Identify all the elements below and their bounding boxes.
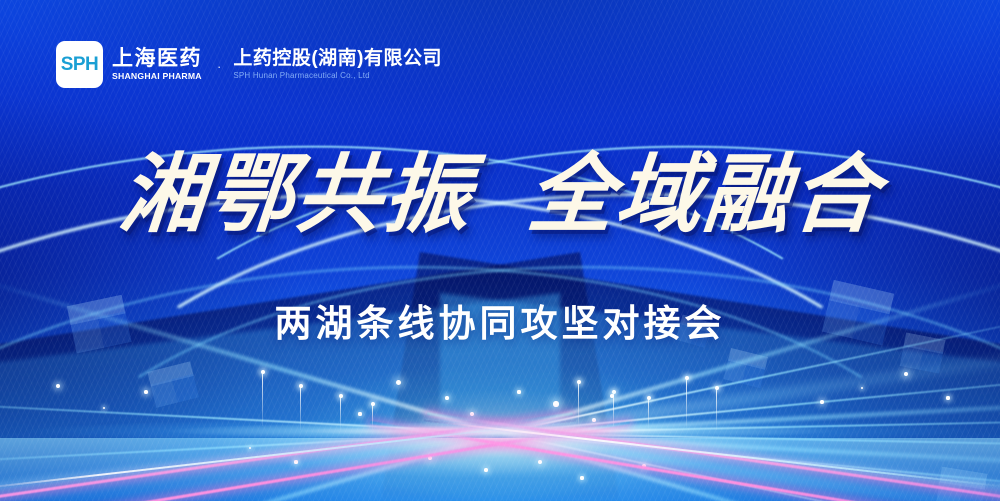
- floating-cube: [820, 280, 894, 354]
- light-arc: [0, 223, 1000, 501]
- event-banner: SPH 上海医药 SHANGHAI PHARMA · 上药控股(湖南)有限公司 …: [0, 0, 1000, 501]
- sparkle-dot: [396, 380, 401, 385]
- white-light-rail: [424, 420, 1000, 494]
- sparkle-dot: [249, 447, 252, 450]
- left-shadow-wedge: [0, 252, 621, 501]
- light-beam: [500, 365, 1000, 434]
- sparkle-dot: [517, 390, 520, 393]
- light-pole: [716, 388, 717, 430]
- light-pole: [372, 404, 373, 430]
- light-beam: [500, 303, 1000, 434]
- light-beam: [499, 432, 1000, 501]
- parent-company-name: 上海医药 SHANGHAI PHARMA: [112, 48, 202, 81]
- sparkle-dot: [428, 456, 433, 461]
- light-arc: [0, 223, 1000, 501]
- right-light-plane: [440, 293, 1000, 501]
- sparkle-dot: [56, 384, 60, 388]
- headline-part-one: 湘鄂共振: [116, 152, 476, 238]
- light-pole: [613, 392, 614, 430]
- light-pole: [578, 382, 579, 428]
- sparkle-dot: [484, 468, 488, 472]
- white-light-rail: [0, 420, 576, 494]
- left-light-plane: [0, 293, 560, 501]
- light-pole: [262, 372, 263, 426]
- sparkle-dot: [144, 390, 148, 394]
- sparkle-dot: [904, 372, 908, 376]
- light-beam: [500, 394, 1000, 436]
- company-logo: SPH 上海医药 SHANGHAI PHARMA · 上药控股(湖南)有限公司 …: [56, 41, 442, 88]
- light-beam: [500, 432, 1000, 474]
- floating-cube: [935, 467, 988, 501]
- light-beam: [0, 432, 500, 471]
- sph-logo-mark-text: SPH: [61, 54, 99, 76]
- sparkle-dot: [820, 400, 824, 404]
- subsidiary-company-name-en: SPH Hunan Pharmaceutical Co., Ltd: [233, 72, 442, 80]
- sparkle-dot: [294, 460, 297, 463]
- sph-logo-mark: SPH: [56, 41, 103, 88]
- light-pole: [340, 396, 341, 430]
- floating-cube: [67, 295, 133, 361]
- sparkle-dot: [946, 396, 949, 399]
- light-arc: [0, 135, 1000, 501]
- light-beam: [500, 432, 1000, 449]
- sparkle-dot: [470, 412, 474, 416]
- sparkle-dot: [861, 387, 864, 390]
- pink-light-streak: [0, 421, 630, 501]
- floating-cube: [899, 333, 946, 380]
- sparkle-dot: [358, 412, 361, 415]
- sparkle-dot: [642, 464, 646, 468]
- pink-light-streak: [370, 421, 1000, 501]
- light-arc: [0, 74, 1000, 501]
- headline: 湘鄂共振 全域融合: [0, 152, 1000, 238]
- sparkle-dot: [538, 460, 542, 464]
- pink-light-streak: [0, 412, 573, 501]
- floating-cube: [147, 361, 200, 414]
- sparkle-dot: [445, 396, 449, 400]
- light-beam: [499, 334, 1000, 438]
- light-pole: [648, 398, 649, 428]
- light-beam: [499, 273, 1000, 436]
- sparkle-dot: [610, 394, 614, 398]
- sparkle-dot: [580, 476, 583, 479]
- logo-separator-dot: ·: [217, 59, 221, 74]
- right-shadow-wedge: [379, 252, 1000, 501]
- light-beam: [0, 273, 501, 436]
- ground-reflection: [0, 438, 1000, 501]
- light-arc: [0, 135, 1000, 501]
- light-pole: [300, 386, 301, 430]
- floating-cube: [674, 314, 711, 351]
- subsidiary-company-name: 上药控股(湖南)有限公司 SPH Hunan Pharmaceutical Co…: [233, 49, 442, 80]
- sparkle-dot: [103, 407, 106, 410]
- horizon-glow: [0, 418, 1000, 444]
- light-beam: [500, 432, 1000, 501]
- sparkle-dot: [592, 418, 596, 422]
- light-beam: [499, 432, 1000, 501]
- subsidiary-company-name-cn: 上药控股(湖南)有限公司: [233, 49, 442, 68]
- sparkle-dot: [553, 401, 558, 406]
- subtitle: 两湖条线协同攻坚对接会: [0, 293, 1000, 347]
- light-pole: [686, 378, 687, 428]
- pink-light-streak: [427, 412, 1000, 501]
- light-beam: [0, 395, 500, 434]
- parent-company-name-cn: 上海医药: [112, 48, 202, 69]
- light-arc: [0, 74, 1000, 501]
- light-beam: [500, 417, 1000, 434]
- light-beam: [0, 432, 501, 501]
- parent-company-name-en: SHANGHAI PHARMA: [112, 72, 204, 81]
- floating-cube: [722, 348, 768, 394]
- subtitle-text: 两湖条线协同攻坚对接会: [275, 303, 726, 344]
- headline-part-two: 全域融合: [524, 152, 884, 238]
- light-beam: [500, 432, 1000, 501]
